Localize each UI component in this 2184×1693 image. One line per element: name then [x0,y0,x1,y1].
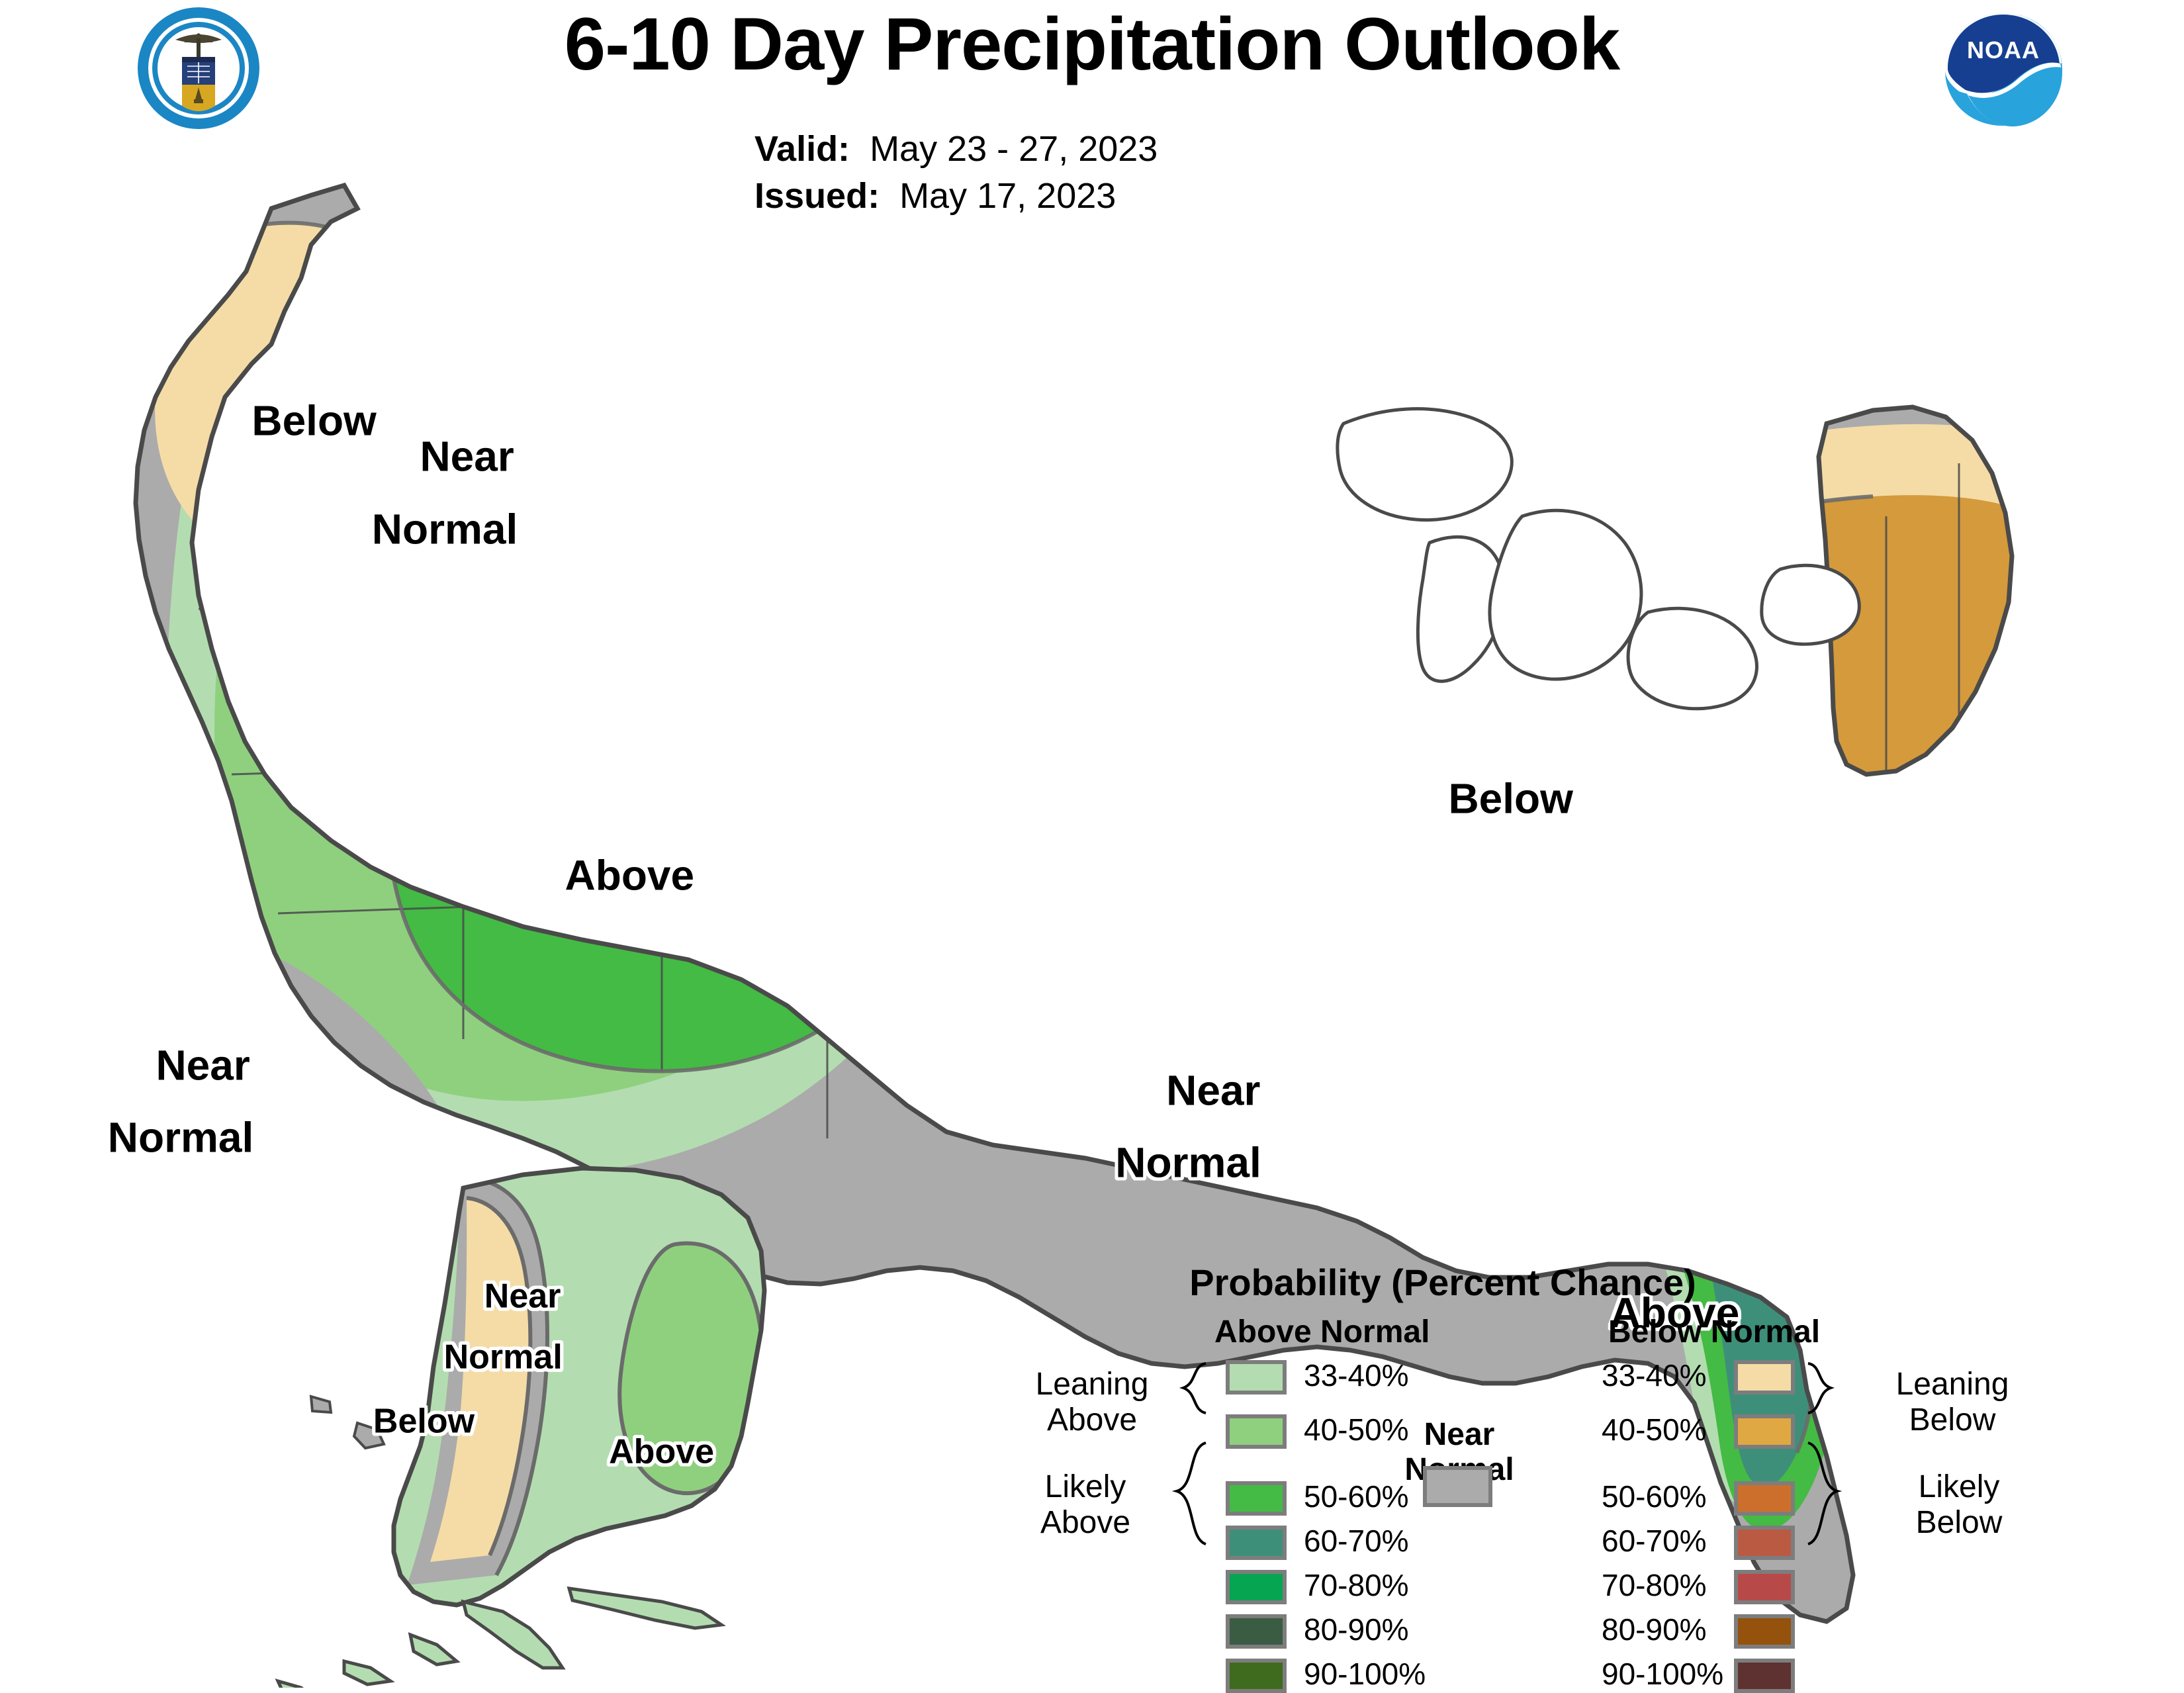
legend-label-above-80-90%: 80-90% [1304,1612,1409,1647]
map-label-below: Below [1448,777,1572,820]
legend-swatch-below-70-80% [1734,1570,1795,1604]
legend-swatch-below-80-90% [1734,1614,1795,1649]
legend-swatch-above-60-70% [1226,1526,1287,1560]
legend-swatch-above-90-100% [1226,1659,1287,1693]
map-label-normal: Normal [1115,1142,1261,1185]
legend-above-header: Above Normal [1214,1314,1430,1350]
map-label-above: Above [565,854,695,897]
map-label-near: Near [1166,1069,1260,1112]
legend-title: Probability (Percent Chance) [1079,1261,1807,1304]
legend-label-below-33-40%: 33-40% [1602,1357,1707,1393]
legend-swatch-below-40-50% [1734,1414,1795,1449]
legend-label-above-40-50%: 40-50% [1304,1412,1409,1447]
map-label-normal: Normal [444,1340,563,1375]
map-label-near: Near [420,435,514,479]
legend-swatch-above-50-60% [1226,1481,1287,1516]
legend-swatch-below-33-40% [1734,1360,1795,1395]
legend-swatch-below-90-100% [1734,1659,1795,1693]
map-label-below: Below [373,1404,475,1439]
map-label-above: Above [609,1434,714,1469]
map-label-below: Below [251,399,376,442]
legend: Probability (Percent Chance) Above Norma… [1079,1261,2111,1688]
legend-label-below-70-80%: 70-80% [1602,1567,1707,1603]
svg-text:NOAA: NOAA [1967,36,2040,64]
likely-below-group-label: Likely Below [1860,1469,2058,1541]
legend-label-above-33-40%: 33-40% [1304,1357,1409,1393]
noaa-logo-icon: NOAA [1939,7,2068,129]
page-title: 6-10 Day Precipitation Outlook [0,5,2184,83]
brace-leaning-below [1808,1363,1831,1413]
leaning-below-group-label: Leaning Below [1853,1367,2052,1438]
legend-below-header: Below Normal [1608,1314,1820,1350]
map-label-normal: Normal [372,508,518,551]
legend-label-above-50-60%: 50-60% [1304,1479,1409,1514]
map-label-near: Near [156,1044,250,1087]
legend-swatch-below-50-60% [1734,1481,1795,1516]
legend-label-below-60-70%: 60-70% [1602,1523,1707,1559]
map-label-normal: Normal [108,1117,254,1160]
legend-label-above-60-70%: 60-70% [1304,1523,1409,1559]
legend-swatch-below-60-70% [1734,1526,1795,1560]
legend-label-above-70-80%: 70-80% [1304,1567,1409,1603]
legend-label-below-50-60%: 50-60% [1602,1479,1707,1514]
map-label-near: Near [484,1279,561,1314]
legend-near-normal-swatch [1423,1466,1492,1507]
brace-likely-below [1808,1443,1837,1544]
legend-label-below-90-100%: 90-100% [1602,1656,1723,1692]
legend-swatch-above-80-90% [1226,1614,1287,1649]
likely-above-group-label: Likely Above [986,1469,1185,1541]
leaning-above-group-label: Leaning Above [993,1367,1191,1438]
legend-label-above-90-100%: 90-100% [1304,1656,1426,1692]
legend-swatch-above-70-80% [1226,1570,1287,1604]
legend-swatch-above-40-50% [1226,1414,1287,1449]
legend-label-below-80-90%: 80-90% [1602,1612,1707,1647]
legend-swatch-above-33-40% [1226,1360,1287,1395]
great-lakes [1338,409,1859,709]
legend-label-below-40-50%: 40-50% [1602,1412,1707,1447]
